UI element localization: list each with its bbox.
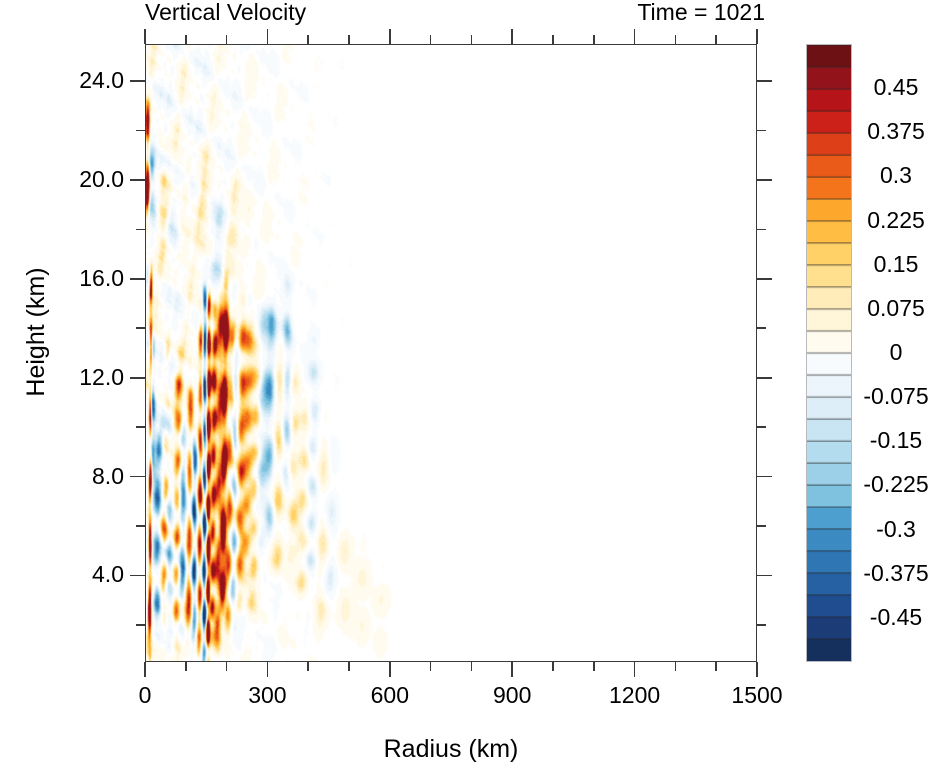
x-tick-minor (593, 35, 595, 44)
x-tick-major (511, 29, 513, 44)
y-tick-minor (136, 426, 145, 428)
x-tick-minor (471, 35, 473, 44)
y-tick-minor (757, 426, 766, 428)
y-tick-minor (136, 130, 145, 132)
x-tick-minor (307, 35, 309, 44)
y-tick-minor (136, 327, 145, 329)
x-tick-minor (552, 662, 554, 671)
colorbar-tick-label: -0.3 (858, 518, 934, 541)
y-tick-major (757, 377, 772, 379)
colorbar-tick-label: 0.075 (858, 297, 934, 320)
plot-area (145, 44, 757, 662)
x-tick-minor (675, 35, 677, 44)
colorbar-tick-label: 0.225 (858, 209, 934, 232)
x-axis-title: Radius (km) (145, 735, 757, 763)
x-tick-minor (185, 35, 187, 44)
y-tick-major (757, 575, 772, 577)
x-tick-minor (430, 662, 432, 671)
colorbar-tick-label: -0.375 (858, 562, 934, 585)
x-tick-minor (226, 35, 228, 44)
figure-canvas: Vertical Velocity Time = 1021 4.08.012.0… (0, 0, 935, 774)
y-tick-minor (757, 327, 766, 329)
colorbar-tick-label: -0.075 (858, 385, 934, 408)
colorbar-tick-label: 0.375 (858, 120, 934, 143)
x-tick-label: 0 (85, 684, 205, 707)
x-tick-minor (430, 35, 432, 44)
x-tick-minor (307, 662, 309, 671)
y-tick-major (130, 80, 145, 82)
x-tick-label: 300 (207, 684, 327, 707)
x-tick-minor (471, 662, 473, 671)
x-tick-major (267, 29, 269, 44)
x-tick-major (144, 662, 146, 677)
y-tick-major (130, 179, 145, 181)
y-tick-label: 20.0 (34, 168, 124, 191)
x-tick-major (267, 662, 269, 677)
x-tick-major (634, 29, 636, 44)
y-tick-label: 4.0 (34, 563, 124, 586)
colorbar-tick-label: 0 (858, 341, 934, 364)
y-tick-minor (136, 525, 145, 527)
x-tick-major (389, 662, 391, 677)
y-tick-major (757, 278, 772, 280)
x-tick-major (389, 29, 391, 44)
x-tick-major (511, 662, 513, 677)
x-tick-minor (552, 35, 554, 44)
y-tick-major (757, 476, 772, 478)
y-axis-title: Height (km) (22, 202, 50, 462)
y-tick-major (130, 476, 145, 478)
vertical-velocity-heatmap (146, 45, 756, 661)
colorbar-tick-label: 0.45 (858, 76, 934, 99)
colorbar-gradient (806, 44, 852, 662)
x-tick-label: 600 (330, 684, 450, 707)
y-tick-major (130, 377, 145, 379)
x-tick-major (756, 29, 758, 44)
x-tick-minor (185, 662, 187, 671)
y-tick-major (130, 278, 145, 280)
y-tick-major (757, 179, 772, 181)
colorbar-tick-label: -0.45 (858, 606, 934, 629)
x-tick-minor (348, 35, 350, 44)
y-tick-minor (757, 525, 766, 527)
colorbar (806, 44, 852, 662)
x-tick-major (144, 29, 146, 44)
x-tick-minor (226, 662, 228, 671)
x-tick-major (756, 662, 758, 677)
y-tick-minor (757, 130, 766, 132)
y-tick-minor (136, 624, 145, 626)
x-tick-minor (348, 662, 350, 671)
x-tick-minor (715, 35, 717, 44)
colorbar-tick-label: 0.3 (858, 164, 934, 187)
time-annotation: Time = 1021 (400, 0, 765, 26)
colorbar-tick-label: 0.15 (858, 253, 934, 276)
x-tick-minor (715, 662, 717, 671)
x-tick-label: 1500 (697, 684, 817, 707)
y-tick-minor (136, 229, 145, 231)
x-tick-label: 1200 (575, 684, 695, 707)
y-tick-minor (757, 229, 766, 231)
x-tick-major (634, 662, 636, 677)
x-tick-minor (593, 662, 595, 671)
y-tick-major (130, 575, 145, 577)
y-tick-minor (757, 624, 766, 626)
x-tick-label: 900 (452, 684, 572, 707)
y-tick-label: 24.0 (34, 69, 124, 92)
colorbar-tick-label: -0.225 (858, 473, 934, 496)
y-tick-major (757, 80, 772, 82)
x-tick-minor (675, 662, 677, 671)
y-tick-label: 8.0 (34, 465, 124, 488)
colorbar-tick-label: -0.15 (858, 429, 934, 452)
